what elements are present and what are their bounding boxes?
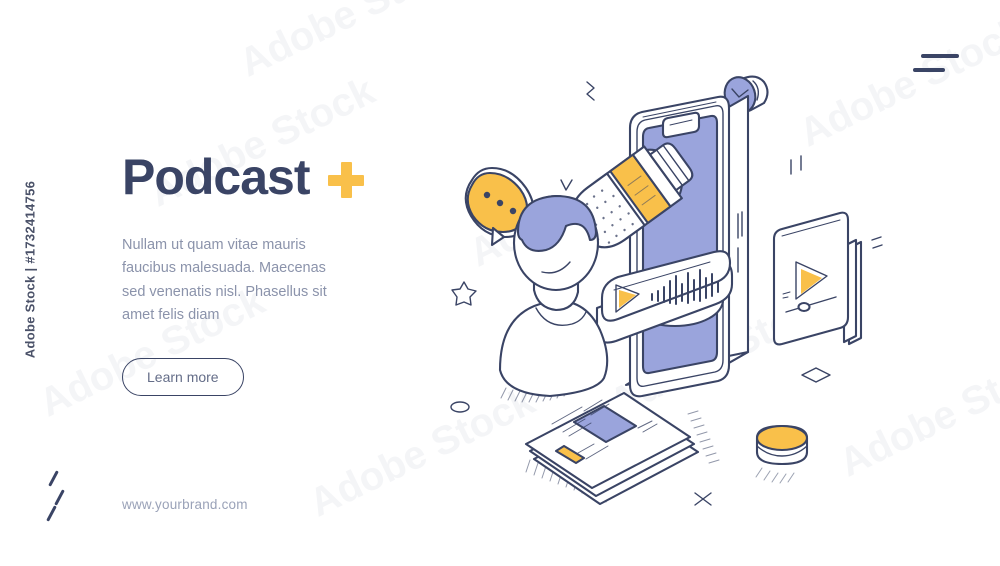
tick-mark xyxy=(791,156,801,174)
dash-mark xyxy=(913,68,945,72)
star-mark xyxy=(452,282,476,305)
person-avatar xyxy=(500,196,607,402)
hero-body-text: Nullam ut quam vitae mauris faucibus mal… xyxy=(122,234,337,328)
page-root: Adobe Stock Adobe Stock Adobe Stock Adob… xyxy=(0,0,1000,566)
ellipse-mark xyxy=(451,402,469,412)
zigzag-mark xyxy=(587,82,594,100)
hero-copy: Podcast Nullam ut quam vitae mauris fauc… xyxy=(122,152,452,396)
dash-mark xyxy=(921,54,959,58)
isometric-podcast-illustration: .ln { fill:none; stroke:#3A4465; stroke-… xyxy=(430,40,1000,540)
plus-icon xyxy=(328,162,364,198)
diamond-mark xyxy=(802,368,830,382)
title-row: Podcast xyxy=(122,152,452,202)
coin-disc xyxy=(756,426,807,483)
chevron-mark xyxy=(561,180,572,190)
slash-mark xyxy=(48,470,59,486)
tick-mark xyxy=(872,237,882,248)
smartphone xyxy=(626,96,748,396)
slash-mark xyxy=(54,489,65,505)
learn-more-button[interactable]: Learn more xyxy=(122,358,244,396)
video-player-card[interactable] xyxy=(774,213,861,345)
slash-mark xyxy=(46,505,57,521)
page-title: Podcast xyxy=(122,152,310,202)
adobe-stock-watermark: Adobe Stock | #1732414756 xyxy=(23,140,38,400)
brand-url: www.yourbrand.com xyxy=(122,497,248,512)
x-mark xyxy=(695,493,711,505)
document-stack xyxy=(526,393,719,504)
